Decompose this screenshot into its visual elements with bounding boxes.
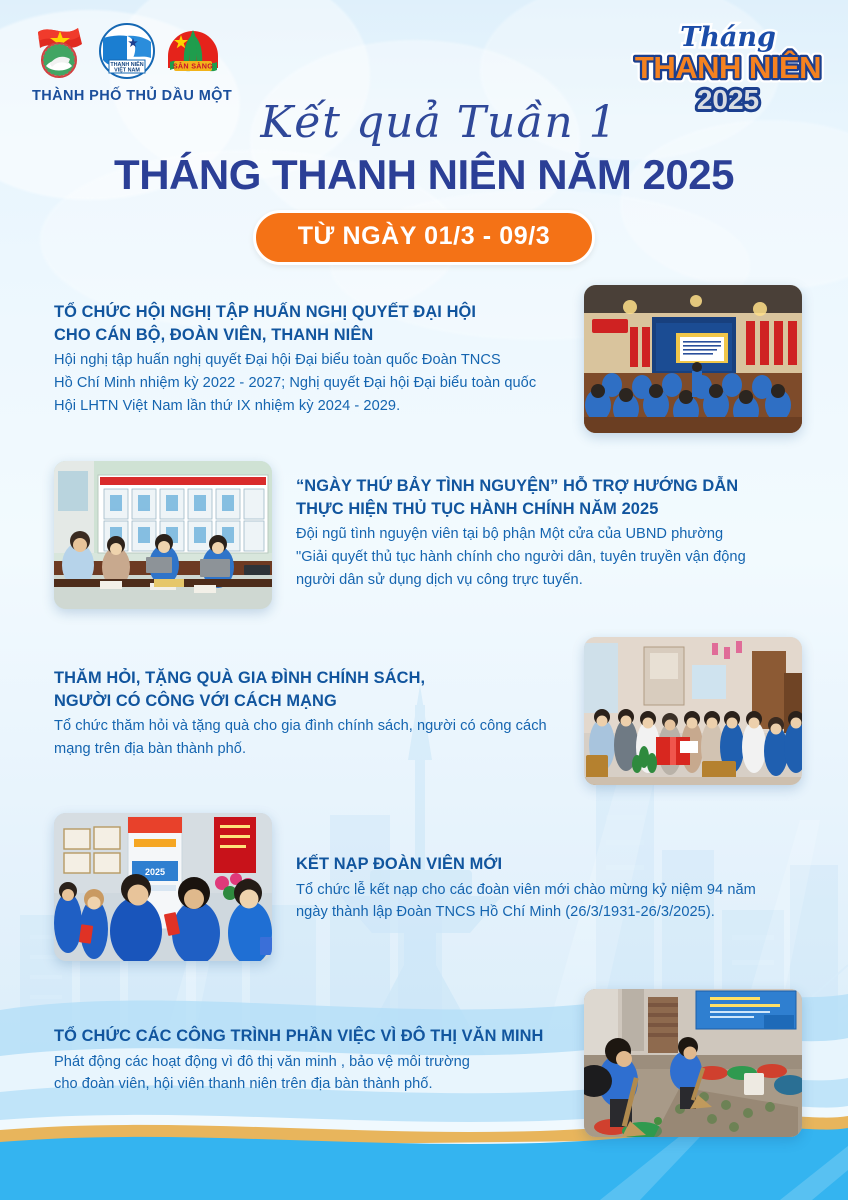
section-body-line: mạng trên địa bàn thành phố.: [54, 738, 560, 761]
hoi-lhtn-viet-nam-emblem: THANH NIÊN VIỆT NAM: [98, 22, 156, 80]
emblem-text-viet-nam: VIỆT NAM: [114, 66, 140, 74]
section-body-line: người dân sử dụng dịch vụ công trực tuyế…: [296, 569, 802, 592]
date-range-badge: TỪ NGÀY 01/3 - 09/3: [253, 210, 596, 265]
section-body-line: "Giải quyết thủ tục hành chính cho người…: [296, 546, 802, 569]
section-body-line: Tổ chức thăm hỏi và tặng quà cho gia đìn…: [54, 715, 560, 738]
section-item: “NGÀY THỨ BẢY TÌNH NGUYỆN” HỖ TRỢ HƯỚNG …: [0, 461, 848, 611]
section-body: Tổ chức lễ kết nạp cho các đoàn viên mới…: [296, 879, 802, 924]
emblem-row: THANH NIÊN VIỆT NAM SẴN SÀNG: [30, 22, 224, 80]
section-text: TỔ CHỨC HỘI NGHỊ TẬP HUẤN NGHỊ QUYẾT ĐẠI…: [54, 285, 584, 417]
photo-hoi-nghi-tap-huan: [584, 285, 802, 433]
photo-do-thi-van-minh: [584, 989, 802, 1137]
section-title-line: CHO CÁN BỘ, ĐOÀN VIÊN, THANH NIÊN: [54, 324, 560, 347]
section-body-line: ngày thành lập Đoàn TNCS Hồ Chí Minh (26…: [296, 901, 802, 924]
section-title-line: NGƯỜI CÓ CÔNG VỚI CÁCH MẠNG: [54, 690, 560, 713]
photo-ngay-thu-bay-tinh-nguyen: [54, 461, 272, 609]
section-text: TỔ CHỨC CÁC CÔNG TRÌNH PHẦN VIỆC VÌ ĐÔ T…: [54, 989, 584, 1096]
section-title: “NGÀY THỨ BẢY TÌNH NGUYỆN” HỖ TRỢ HƯỚNG …: [296, 475, 802, 520]
content-sections: TỔ CHỨC HỘI NGHỊ TẬP HUẤN NGHỊ QUYẾT ĐẠI…: [0, 285, 848, 1165]
section-item: TỔ CHỨC HỘI NGHỊ TẬP HUẤN NGHỊ QUYẾT ĐẠI…: [0, 285, 848, 435]
section-title: THĂM HỎI, TẶNG QUÀ GIA ĐÌNH CHÍNH SÁCH, …: [54, 667, 560, 712]
section-text: “NGÀY THỨ BẢY TÌNH NGUYỆN” HỖ TRỢ HƯỚNG …: [272, 461, 802, 591]
section-body-line: Hội nghị tập huấn nghị quyết Đại hội Đại…: [54, 349, 560, 372]
section-item: TỔ CHỨC CÁC CÔNG TRÌNH PHẦN VIỆC VÌ ĐÔ T…: [0, 989, 848, 1139]
headline-block: Kết quả Tuần 1 THÁNG THANH NIÊN NĂM 2025…: [0, 100, 848, 265]
section-title-line: TỔ CHỨC CÁC CÔNG TRÌNH PHẦN VIỆC VÌ ĐÔ T…: [54, 1025, 560, 1048]
section-title-line: THỰC HIỆN THỦ TỤC HÀNH CHÍNH NĂM 2025: [296, 498, 802, 521]
doan-tncs-ho-chi-minh-emblem: [30, 22, 92, 80]
section-text: THĂM HỎI, TẶNG QUÀ GIA ĐÌNH CHÍNH SÁCH, …: [54, 637, 584, 761]
section-body: Tổ chức thăm hỏi và tặng quà cho gia đìn…: [54, 715, 560, 760]
emblem-text-san-sang: SẴN SÀNG: [173, 62, 213, 71]
section-item: KẾT NẠP ĐOÀN VIÊN MỚI Tổ chức lễ kết nạp…: [0, 813, 848, 963]
section-text: KẾT NẠP ĐOÀN VIÊN MỚI Tổ chức lễ kết nạp…: [272, 813, 802, 924]
section-body-line: Hồ Chí Minh nhiệm kỳ 2022 - 2027; Nghị q…: [54, 372, 560, 395]
page-subtitle-script: Kết quả Tuần 1: [0, 100, 848, 146]
section-body-line: Phát động các hoạt động vì đô thị văn mi…: [54, 1051, 560, 1074]
section-body-line: Hội LHTN Việt Nam lần thứ IX nhiệm kỳ 20…: [54, 395, 560, 418]
section-title: TỔ CHỨC CÁC CÔNG TRÌNH PHẦN VIỆC VÌ ĐÔ T…: [54, 1025, 560, 1048]
svg-text:2025: 2025: [145, 867, 165, 877]
photo-tham-hoi-tang-qua: [584, 637, 802, 785]
section-title: KẾT NẠP ĐOÀN VIÊN MỚI: [296, 853, 802, 876]
poster-root: THANH NIÊN VIỆT NAM SẴN SÀNG: [0, 0, 848, 1200]
page-title: THÁNG THANH NIÊN NĂM 2025: [0, 152, 848, 197]
section-body-line: Đội ngũ tình nguyện viên tại bộ phận Một…: [296, 523, 802, 546]
campaign-logo-main: THANH NIÊN: [635, 49, 821, 85]
section-body: Đội ngũ tình nguyện viên tại bộ phận Một…: [296, 523, 802, 591]
photo-ket-nap-doan-vien-moi: 2025: [54, 813, 272, 961]
section-body-line: Tổ chức lễ kết nạp cho các đoàn viên mới…: [296, 879, 802, 902]
section-body-line: cho đoàn viên, hội viên thanh niên trên …: [54, 1073, 560, 1096]
section-title-line: KẾT NẠP ĐOÀN VIÊN MỚI: [296, 853, 802, 876]
section-title-line: THĂM HỎI, TẶNG QUÀ GIA ĐÌNH CHÍNH SÁCH,: [54, 667, 560, 690]
section-title-line: TỔ CHỨC HỘI NGHỊ TẬP HUẤN NGHỊ QUYẾT ĐẠI…: [54, 301, 560, 324]
section-title-line: “NGÀY THỨ BẢY TÌNH NGUYỆN” HỖ TRỢ HƯỚNG …: [296, 475, 802, 498]
section-title: TỔ CHỨC HỘI NGHỊ TẬP HUẤN NGHỊ QUYẾT ĐẠI…: [54, 301, 560, 346]
doi-tntp-san-sang-emblem: SẴN SÀNG: [162, 22, 224, 80]
campaign-logo-script: Tháng: [680, 22, 776, 53]
organization-logos: THANH NIÊN VIỆT NAM SẴN SÀNG: [30, 22, 232, 104]
section-body: Hội nghị tập huấn nghị quyết Đại hội Đại…: [54, 349, 560, 417]
section-item: THĂM HỎI, TẶNG QUÀ GIA ĐÌNH CHÍNH SÁCH, …: [0, 637, 848, 787]
section-body: Phát động các hoạt động vì đô thị văn mi…: [54, 1051, 560, 1096]
